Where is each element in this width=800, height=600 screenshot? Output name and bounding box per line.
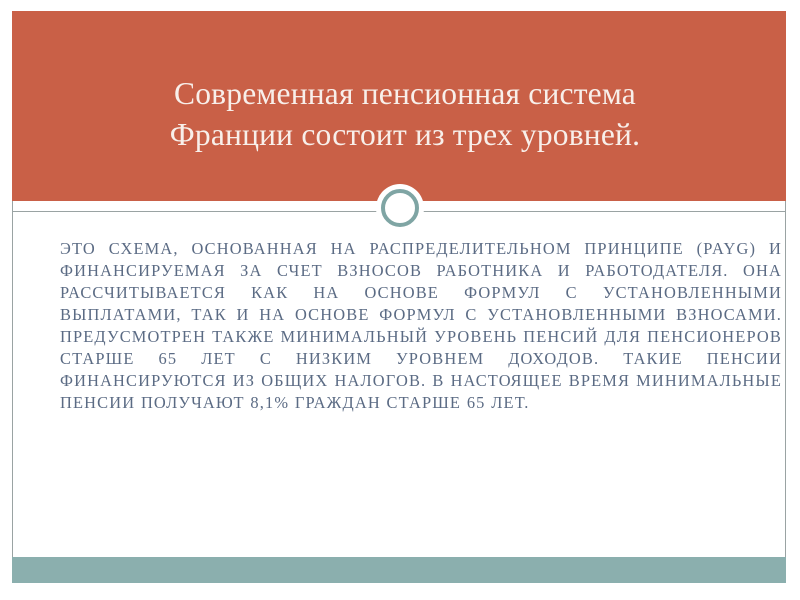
slide-body-text: Это схема, основанная на распределительн… bbox=[60, 238, 782, 414]
circle-ring-icon bbox=[376, 184, 424, 232]
ring-stroke bbox=[381, 189, 419, 227]
footer-bar-icon bbox=[12, 557, 786, 583]
title-banner: Современная пенсионная система Франции с… bbox=[12, 11, 786, 201]
slide-canvas: Современная пенсионная система Франции с… bbox=[0, 0, 800, 600]
slide-title: Современная пенсионная система Франции с… bbox=[48, 73, 762, 155]
